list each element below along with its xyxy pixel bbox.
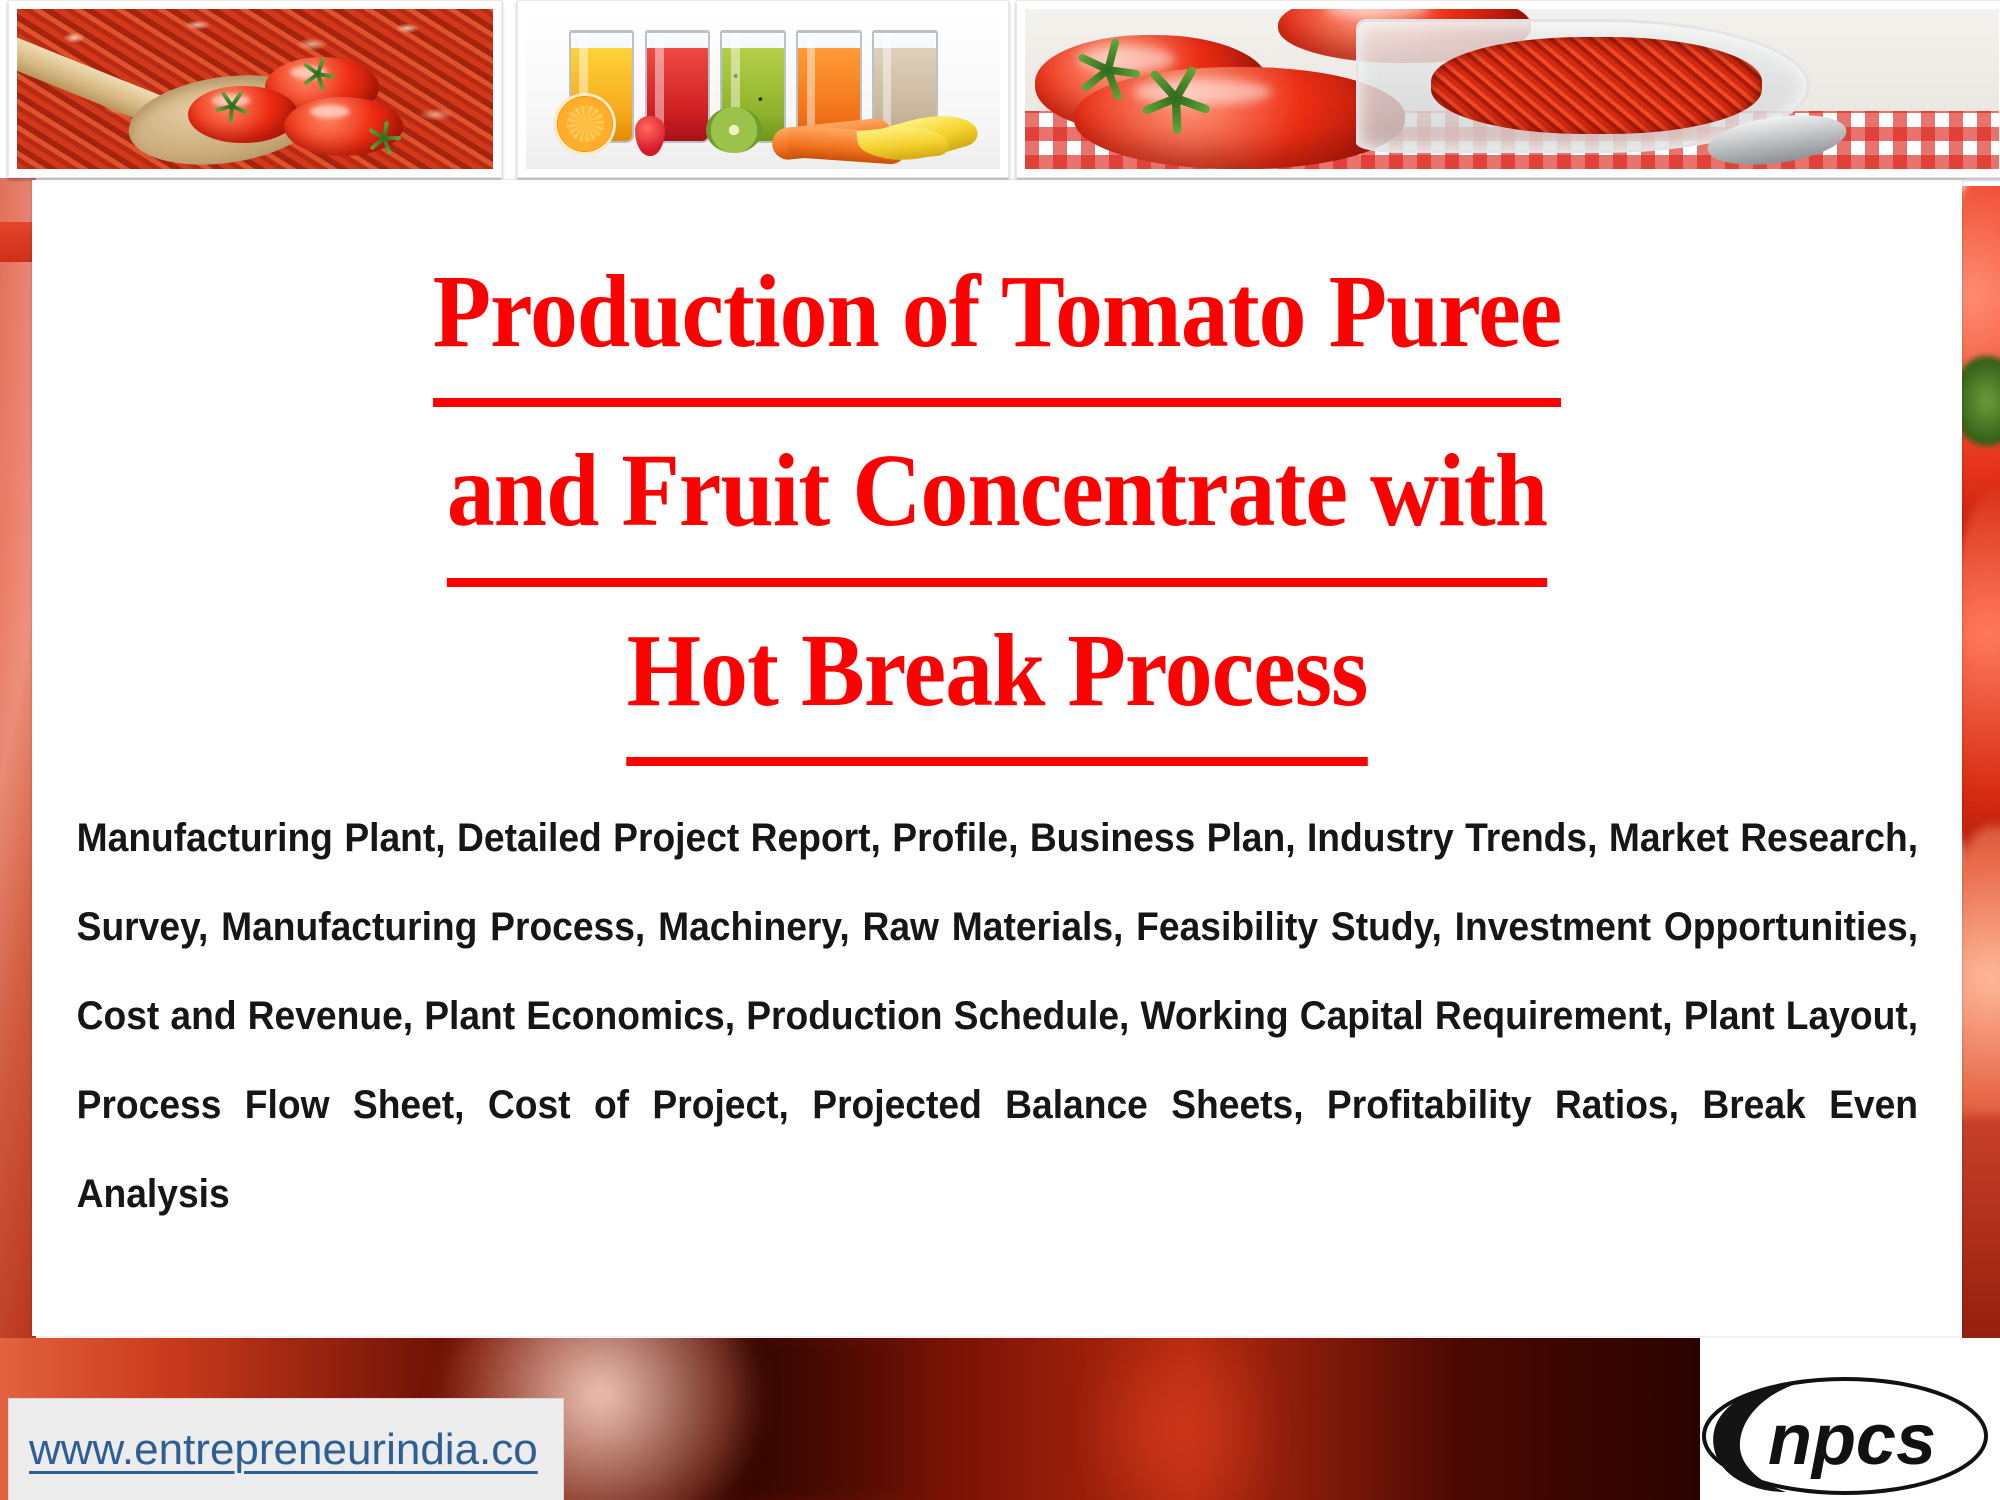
left-accent-bar <box>0 222 36 262</box>
slide-canvas: Production of Tomato Puree and Fruit Con… <box>0 0 2000 1500</box>
right-decorative-background <box>1962 186 2000 1338</box>
title-line-1: Production of Tomato Puree <box>433 228 1562 407</box>
page-title: Production of Tomato Puree and Fruit Con… <box>109 180 1885 766</box>
assorted-fruit-juice-glasses-photo <box>517 0 1009 178</box>
website-url-box[interactable]: www.entrepreneurindia.co <box>8 1398 564 1500</box>
left-decorative-background <box>0 178 36 1338</box>
tomato-sauce-with-wooden-spoon-photo <box>8 0 502 178</box>
npcs-logo-text: npcs <box>1768 1400 1936 1480</box>
website-url-link[interactable]: www.entrepreneurindia.co <box>29 1425 538 1475</box>
npcs-logo: npcs <box>1700 1372 1990 1500</box>
title-line-2: and Fruit Concentrate with <box>447 407 1547 586</box>
tomatoes-with-jar-of-tomato-paste-photo <box>1016 0 2000 178</box>
title-line-3: Hot Break Process <box>627 587 1368 766</box>
report-scope-paragraph: Manufacturing Plant, Detailed Project Re… <box>32 794 1950 1238</box>
content-card: Production of Tomato Puree and Fruit Con… <box>32 180 1962 1336</box>
